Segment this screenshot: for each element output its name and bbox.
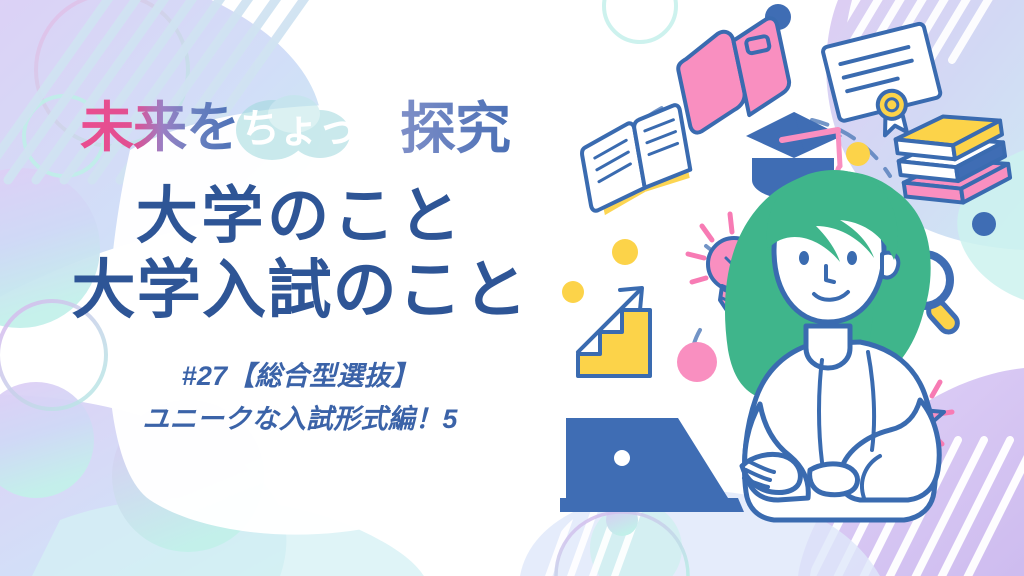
dot-yellow-2 (846, 142, 870, 166)
logo-segment-tankyu: 探究 (400, 97, 510, 160)
logo-lockup: 未来を ちょっと 探究 (80, 92, 520, 158)
page-title-line-2: 大学入試のこと (72, 253, 529, 329)
dot-blue-2 (972, 212, 996, 236)
illustration-group (560, 0, 1024, 576)
dot-pink-2 (677, 342, 717, 382)
hand-right (810, 464, 858, 495)
page-title-line-1: 大学のこと (72, 180, 529, 253)
subtitle-line-2: ユニークな入試形式編！5 (142, 398, 457, 442)
open-book-pink-icon (672, 17, 796, 134)
subtitle: #27【総合型選抜】 ユニークな入試形式編！5 (142, 355, 457, 442)
text-column: 未来を ちょっと 探究 大学のこと 大学入試のこと #27【総合型選抜】 ユニー… (0, 0, 600, 576)
banner: 未来を ちょっと 探究 大学のこと 大学入試のこと #27【総合型選抜】 ユニー… (0, 0, 1024, 576)
dot-yellow (612, 239, 638, 265)
subtitle-line-1: #27【総合型選抜】 (142, 355, 457, 399)
ear (882, 253, 898, 278)
collar (806, 326, 850, 368)
illustration-artwork (560, 0, 1024, 576)
logo-segment-chotto: ちょっと (240, 107, 396, 151)
laptop-logo-dot (614, 450, 630, 466)
book-stack-icon (893, 108, 1012, 210)
logo-segment-mirai: 未来を (80, 98, 239, 158)
page-title: 大学のこと 大学入試のこと (72, 180, 529, 329)
logo-artwork: 未来を ちょっと 探究 (80, 90, 520, 160)
